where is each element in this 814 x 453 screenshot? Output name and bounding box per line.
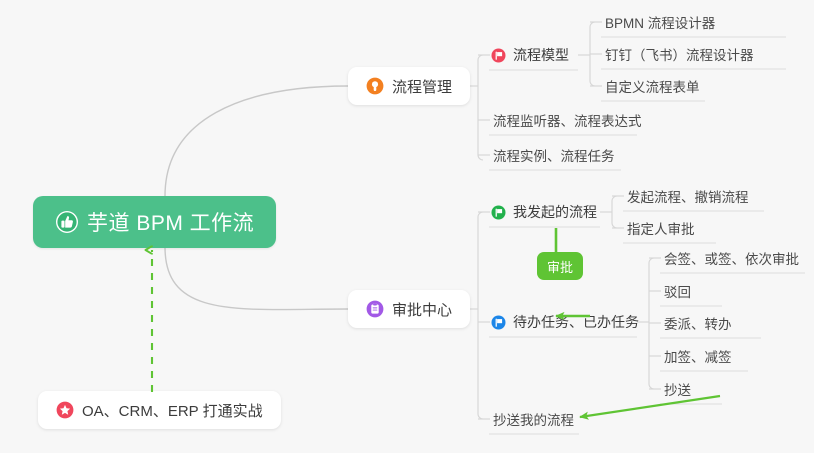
star-icon xyxy=(56,401,74,419)
leaf-node-start-cancel-process[interactable]: 发起流程、撤销流程 xyxy=(623,183,755,209)
branch-node-approval-center[interactable]: 审批中心 xyxy=(348,290,470,328)
leaf-node-delegate-transfer[interactable]: 委派、转办 xyxy=(660,310,738,336)
leaf-node-bpmn-designer[interactable]: BPMN 流程设计器 xyxy=(601,9,721,35)
leaf-node-cc-to-me-processes[interactable]: 抄送我的流程 xyxy=(489,406,580,432)
connector-pm-bracket xyxy=(478,55,483,160)
leaf-node-delegate-transfer-label: 委派、转办 xyxy=(664,313,732,333)
clipboard-icon xyxy=(366,300,384,318)
leaf-node-todo-done-tasks-label: 待办任务、已办任务 xyxy=(513,312,639,332)
annotation-card-integration-label: OA、CRM、ERP 打通实战 xyxy=(82,400,263,421)
branch-node-approval-center-label: 审批中心 xyxy=(392,299,452,320)
leaf-node-process-listener-expression[interactable]: 流程监听器、流程表达式 xyxy=(489,107,648,133)
connector-root-to-process-management xyxy=(165,86,348,196)
leaf-node-cc[interactable]: 抄送 xyxy=(660,376,697,402)
branch-node-process-management[interactable]: 流程管理 xyxy=(348,67,470,105)
root-node-label: 芋道 BPM 工作流 xyxy=(87,207,254,237)
leaf-node-reject[interactable]: 驳回 xyxy=(660,278,697,304)
leaf-node-cc-label: 抄送 xyxy=(664,379,691,399)
mindmap-canvas: 芋道 BPM 工作流 流程管理 流程模型 BPMN 流程设计器 钉钉（飞书）流程… xyxy=(0,0,814,453)
annotation-tag-approval-label: 审批 xyxy=(547,257,573,276)
connector-model-bracket xyxy=(590,22,595,86)
flag-icon xyxy=(491,205,506,220)
leaf-node-process-model[interactable]: 流程模型 xyxy=(489,42,575,68)
flag-icon xyxy=(491,48,506,63)
leaf-node-bpmn-designer-label: BPMN 流程设计器 xyxy=(605,12,715,32)
leaf-node-reject-label: 驳回 xyxy=(664,281,691,301)
arrow-cc-to-cc-to-me xyxy=(580,396,720,417)
leaf-node-add-remove-signer[interactable]: 加签、减签 xyxy=(660,343,738,369)
leaf-node-countersign-orsign-sequential-label: 会签、或签、依次审批 xyxy=(664,248,799,268)
leaf-node-dingtalk-feishu-designer[interactable]: 钉钉（飞书）流程设计器 xyxy=(601,41,760,67)
leaf-node-my-initiated-processes-label: 我发起的流程 xyxy=(513,202,597,222)
connector-root-to-approval-center xyxy=(165,247,348,310)
flag-icon xyxy=(491,315,506,330)
leaf-node-custom-process-form-label: 自定义流程表单 xyxy=(605,76,700,96)
annotation-tag-approval[interactable]: 审批 xyxy=(537,252,583,280)
thumbs-up-icon xyxy=(55,210,79,234)
leaf-node-my-initiated-processes[interactable]: 我发起的流程 xyxy=(489,199,603,225)
leaf-node-designated-approver[interactable]: 指定人审批 xyxy=(623,215,701,241)
annotation-card-integration[interactable]: OA、CRM、ERP 打通实战 xyxy=(38,391,281,429)
leaf-node-todo-done-tasks[interactable]: 待办任务、已办任务 xyxy=(489,309,645,335)
connector-tasks-bracket xyxy=(649,258,654,389)
leaf-node-dingtalk-feishu-designer-label: 钉钉（飞书）流程设计器 xyxy=(605,44,754,64)
branch-node-process-management-label: 流程管理 xyxy=(392,76,452,97)
leaf-node-process-model-label: 流程模型 xyxy=(513,45,569,65)
leaf-node-designated-approver-label: 指定人审批 xyxy=(627,218,695,238)
connector-mine-bracket xyxy=(612,196,617,228)
leaf-node-process-listener-expression-label: 流程监听器、流程表达式 xyxy=(493,110,642,130)
leaf-node-countersign-orsign-sequential[interactable]: 会签、或签、依次审批 xyxy=(660,245,805,271)
lightbulb-pin-icon xyxy=(366,77,384,95)
leaf-node-custom-process-form[interactable]: 自定义流程表单 xyxy=(601,73,706,99)
leaf-node-start-cancel-process-label: 发起流程、撤销流程 xyxy=(627,186,749,206)
leaf-node-process-instance-task[interactable]: 流程实例、流程任务 xyxy=(489,142,621,168)
connector-ac-bracket xyxy=(478,212,483,419)
leaf-node-process-instance-task-label: 流程实例、流程任务 xyxy=(493,145,615,165)
leaf-node-cc-to-me-processes-label: 抄送我的流程 xyxy=(493,409,574,429)
root-node[interactable]: 芋道 BPM 工作流 xyxy=(33,196,276,248)
leaf-node-add-remove-signer-label: 加签、减签 xyxy=(664,346,732,366)
